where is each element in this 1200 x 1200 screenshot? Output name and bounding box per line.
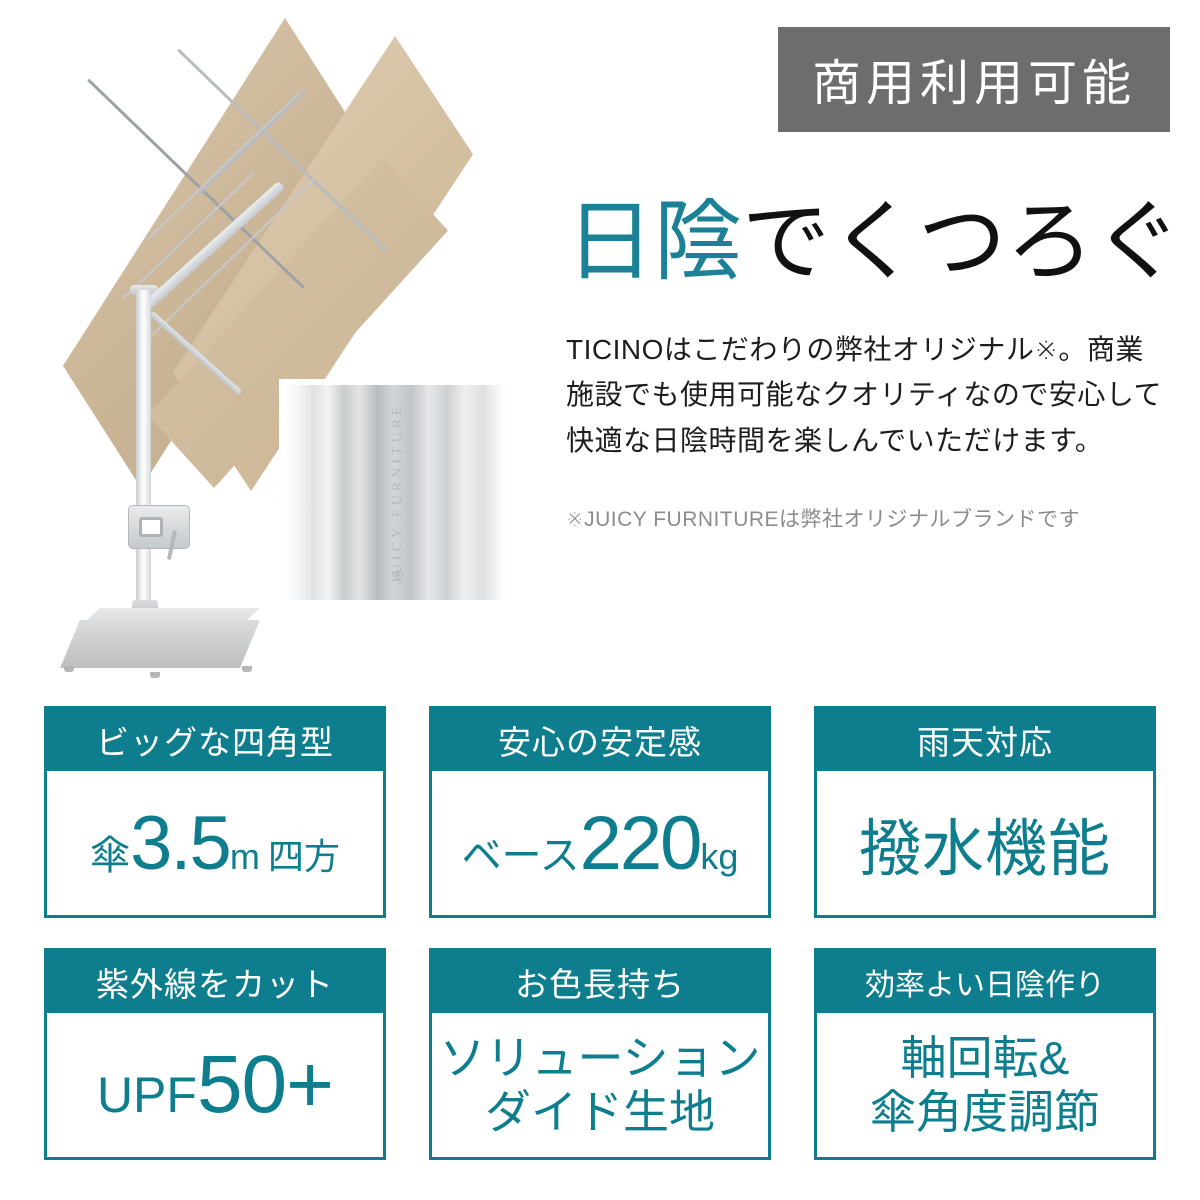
feature-value-part: ベース [462, 823, 580, 881]
headline-rest: でくつろぐ [742, 195, 1182, 292]
feature-value-line: 軸回転& [870, 1031, 1100, 1085]
feature-card-heading: ビッグな四角型 [47, 709, 383, 771]
base-foot [64, 666, 74, 672]
commercial-use-badge-label: 商用利用可能 [812, 44, 1136, 115]
feature-value-line: 傘角度調節 [870, 1085, 1100, 1139]
feature-value-part: kg [700, 836, 738, 878]
headline-accent: 日陰 [566, 195, 742, 292]
umbrella-mast [136, 290, 151, 640]
feature-card: お色長持ちソリューションダイド生地 [429, 948, 771, 1160]
feature-card: 紫外線をカットUPF50+ [44, 948, 386, 1160]
juicy-furniture-diamond-logo-icon [391, 568, 405, 582]
feature-value-lines: 撥水機能 [859, 798, 1111, 888]
feature-card: 雨天対応撥水機能 [814, 706, 1156, 918]
copy-column: 日陰でくつろぐ TICINOはこだわりの弊社オリジナル※。商業施設でも使用可能な… [566, 196, 1176, 533]
feature-card-value: 軸回転&傘角度調節 [817, 1013, 1153, 1157]
hinge-aperture [139, 517, 163, 537]
feature-value-part: 220 [580, 800, 701, 887]
feature-value-line: ベース220kg [462, 800, 739, 887]
feature-card-heading: 効率よい日陰作り [817, 951, 1153, 1013]
feature-value-line: ダイド生地 [439, 1085, 760, 1139]
page-title: 日陰でくつろぐ [566, 196, 1176, 291]
tilt-hinge-mechanism [128, 505, 190, 549]
feature-value-part: UPF [97, 1066, 197, 1124]
hero-section: JUICY FURNITURE 商用利用可能 日陰でくつろぐ TICINOはこだ… [0, 0, 1200, 690]
feature-value-part: 傘 [90, 823, 130, 881]
feature-card-heading: お色長持ち [432, 951, 768, 1013]
feature-value-part: 3.5 [130, 800, 230, 887]
base-slab [60, 620, 260, 668]
feature-card-heading: 雨天対応 [817, 709, 1153, 771]
feature-value-part: 50+ [197, 1038, 333, 1132]
feature-value-line: ソリューション [439, 1031, 760, 1085]
base-foot [150, 672, 160, 678]
pole-detail-inset-photo: JUICY FURNITURE [285, 385, 510, 600]
feature-value-line: UPF50+ [97, 1038, 333, 1132]
pole-brand-engraving-label: JUICY FURNITURE [390, 402, 406, 583]
feature-value-part: 四方 [260, 828, 340, 880]
feature-card-value: 傘3.5m四方 [47, 771, 383, 915]
feature-card: 効率よい日陰作り軸回転&傘角度調節 [814, 948, 1156, 1160]
product-feature-page: JUICY FURNITURE 商用利用可能 日陰でくつろぐ TICINOはこだ… [0, 0, 1200, 1200]
feature-card-grid: ビッグな四角型傘3.5m四方安心の安定感ベース220kg雨天対応撥水機能紫外線を… [44, 706, 1156, 1160]
feature-value-lines: 軸回転&傘角度調節 [870, 1031, 1100, 1140]
feature-card-heading: 安心の安定感 [432, 709, 768, 771]
feature-card-value: UPF50+ [47, 1013, 383, 1157]
feature-card-value: 撥水機能 [817, 771, 1153, 915]
commercial-use-badge: 商用利用可能 [778, 27, 1170, 132]
feature-card-value: ベース220kg [432, 771, 768, 915]
base-foot [242, 666, 252, 672]
feature-value-line: 撥水機能 [859, 798, 1111, 888]
feature-value-lines: ソリューションダイド生地 [439, 1031, 760, 1140]
lede-paragraph: TICINOはこだわりの弊社オリジナル※。商業施設でも使用可能なクオリティなので… [566, 327, 1166, 463]
brand-footnote: ※JUICY FURNITUREは弊社オリジナルブランドです [566, 503, 1176, 533]
feature-card: 安心の安定感ベース220kg [429, 706, 771, 918]
feature-card-value: ソリューションダイド生地 [432, 1013, 768, 1157]
feature-card: ビッグな四角型傘3.5m四方 [44, 706, 386, 918]
feature-value-part: m [230, 836, 260, 878]
feature-card-heading: 紫外線をカット [47, 951, 383, 1013]
feature-value-line: 傘3.5m四方 [90, 800, 340, 887]
